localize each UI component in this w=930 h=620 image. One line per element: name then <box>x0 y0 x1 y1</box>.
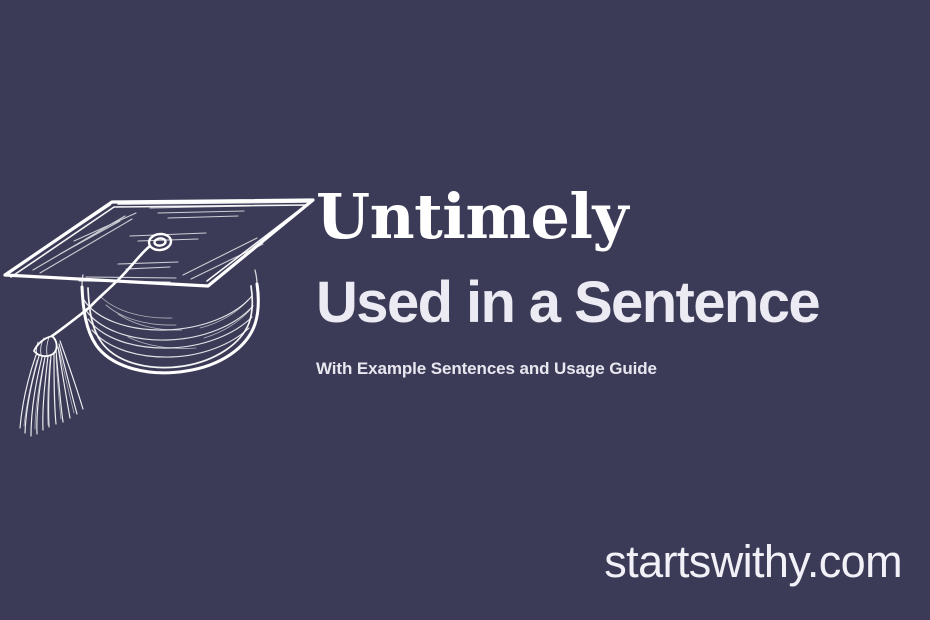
text-block: Untimely Used in a Sentence With Example… <box>316 186 916 377</box>
headline: Used in a Sentence <box>316 248 916 332</box>
word-title: Untimely <box>316 186 916 248</box>
graduation-cap-icon <box>0 178 320 453</box>
brand-url: startswithy.com <box>604 539 902 584</box>
subtitle: With Example Sentences and Usage Guide <box>316 332 916 377</box>
promo-card: Untimely Used in a Sentence With Example… <box>0 0 930 620</box>
